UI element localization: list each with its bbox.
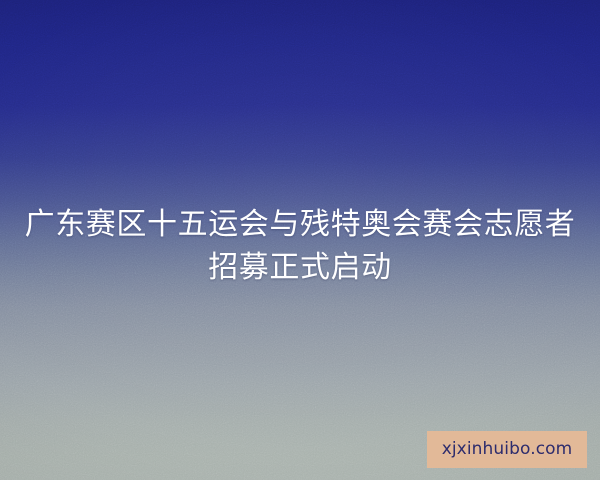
image-canvas: 广东赛区十五运会与残特奥会赛会志愿者 招募正式启动 xjxinhuibo.com xyxy=(0,0,600,480)
watermark-badge: xjxinhuibo.com xyxy=(427,431,587,468)
watermark-url-text: xjxinhuibo.com xyxy=(442,441,573,458)
headline-block: 广东赛区十五运会与残特奥会赛会志愿者 招募正式启动 xyxy=(0,203,600,289)
headline-line-1: 广东赛区十五运会与残特奥会赛会志愿者 xyxy=(18,203,582,246)
headline-line-2: 招募正式启动 xyxy=(18,246,582,289)
